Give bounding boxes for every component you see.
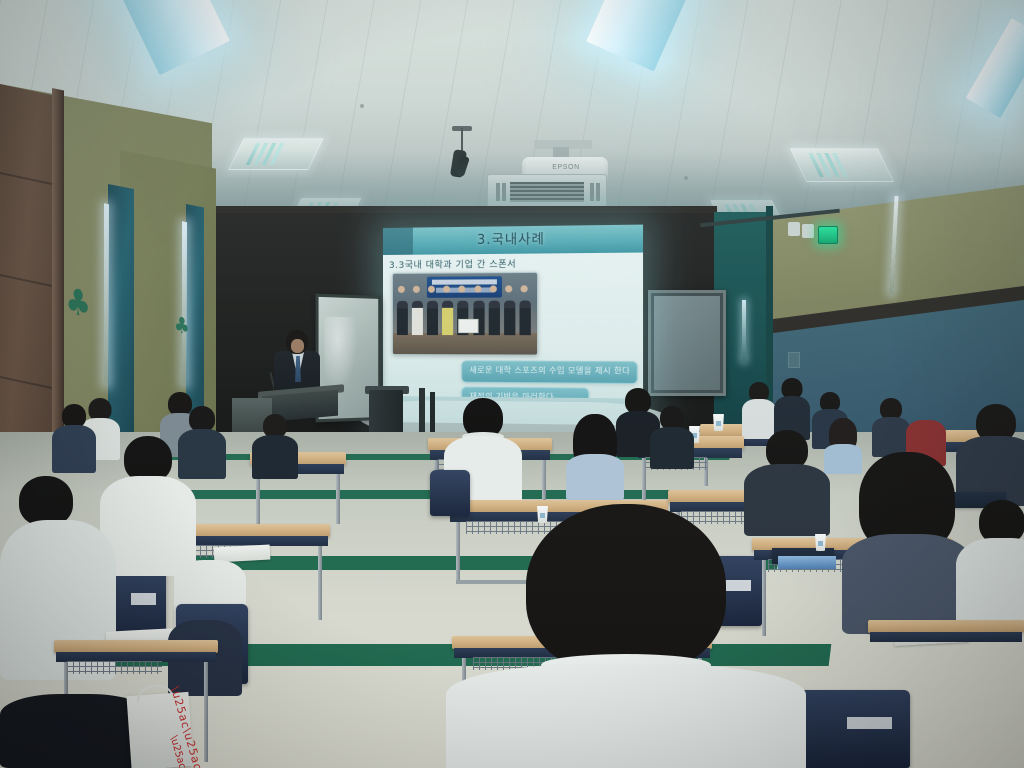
light-switch[interactable] (788, 352, 800, 368)
seminar-room-photo: EPSON (0, 0, 1024, 768)
paper-cup (712, 414, 725, 431)
signed-document (459, 319, 479, 333)
speaker-icon (788, 222, 800, 236)
presenter-face (291, 339, 304, 353)
slide-title: 3.국내사례 (383, 227, 643, 249)
ceiling-sensor (360, 104, 364, 108)
exit-sign-icon (818, 226, 838, 244)
paper-shopping-bag: \u25ac\u25ac \u25ac (126, 692, 193, 768)
slide-embedded-photo (392, 272, 538, 356)
attendee (956, 500, 1024, 630)
attendee (650, 406, 694, 464)
slide-subtitle: 3.3국내 대학과 기업 간 스폰서 (389, 257, 516, 271)
attendee (52, 404, 96, 468)
camera-cable (461, 128, 463, 152)
attendee (566, 414, 624, 494)
wall-tree-motif: ♣ (174, 314, 190, 339)
paper-cup (814, 534, 827, 551)
wall-notice-board (648, 290, 726, 396)
slide-bullet-text: 새로운 대학 스포즈의 수입 모델을 제시 한다 (469, 364, 630, 376)
slide-bullet: 새로운 대학 스포즈의 수입 모델을 제시 한다 (461, 360, 637, 384)
attendee (842, 452, 972, 622)
door-edge-light (742, 300, 746, 362)
notice-board-surface (654, 296, 720, 390)
attendee-foreground (446, 504, 806, 768)
speaker-icon (802, 224, 814, 238)
wall-tree-motif: ♣ (65, 283, 91, 324)
attendee (252, 414, 298, 474)
attendee (872, 398, 910, 454)
attendee (774, 378, 810, 438)
